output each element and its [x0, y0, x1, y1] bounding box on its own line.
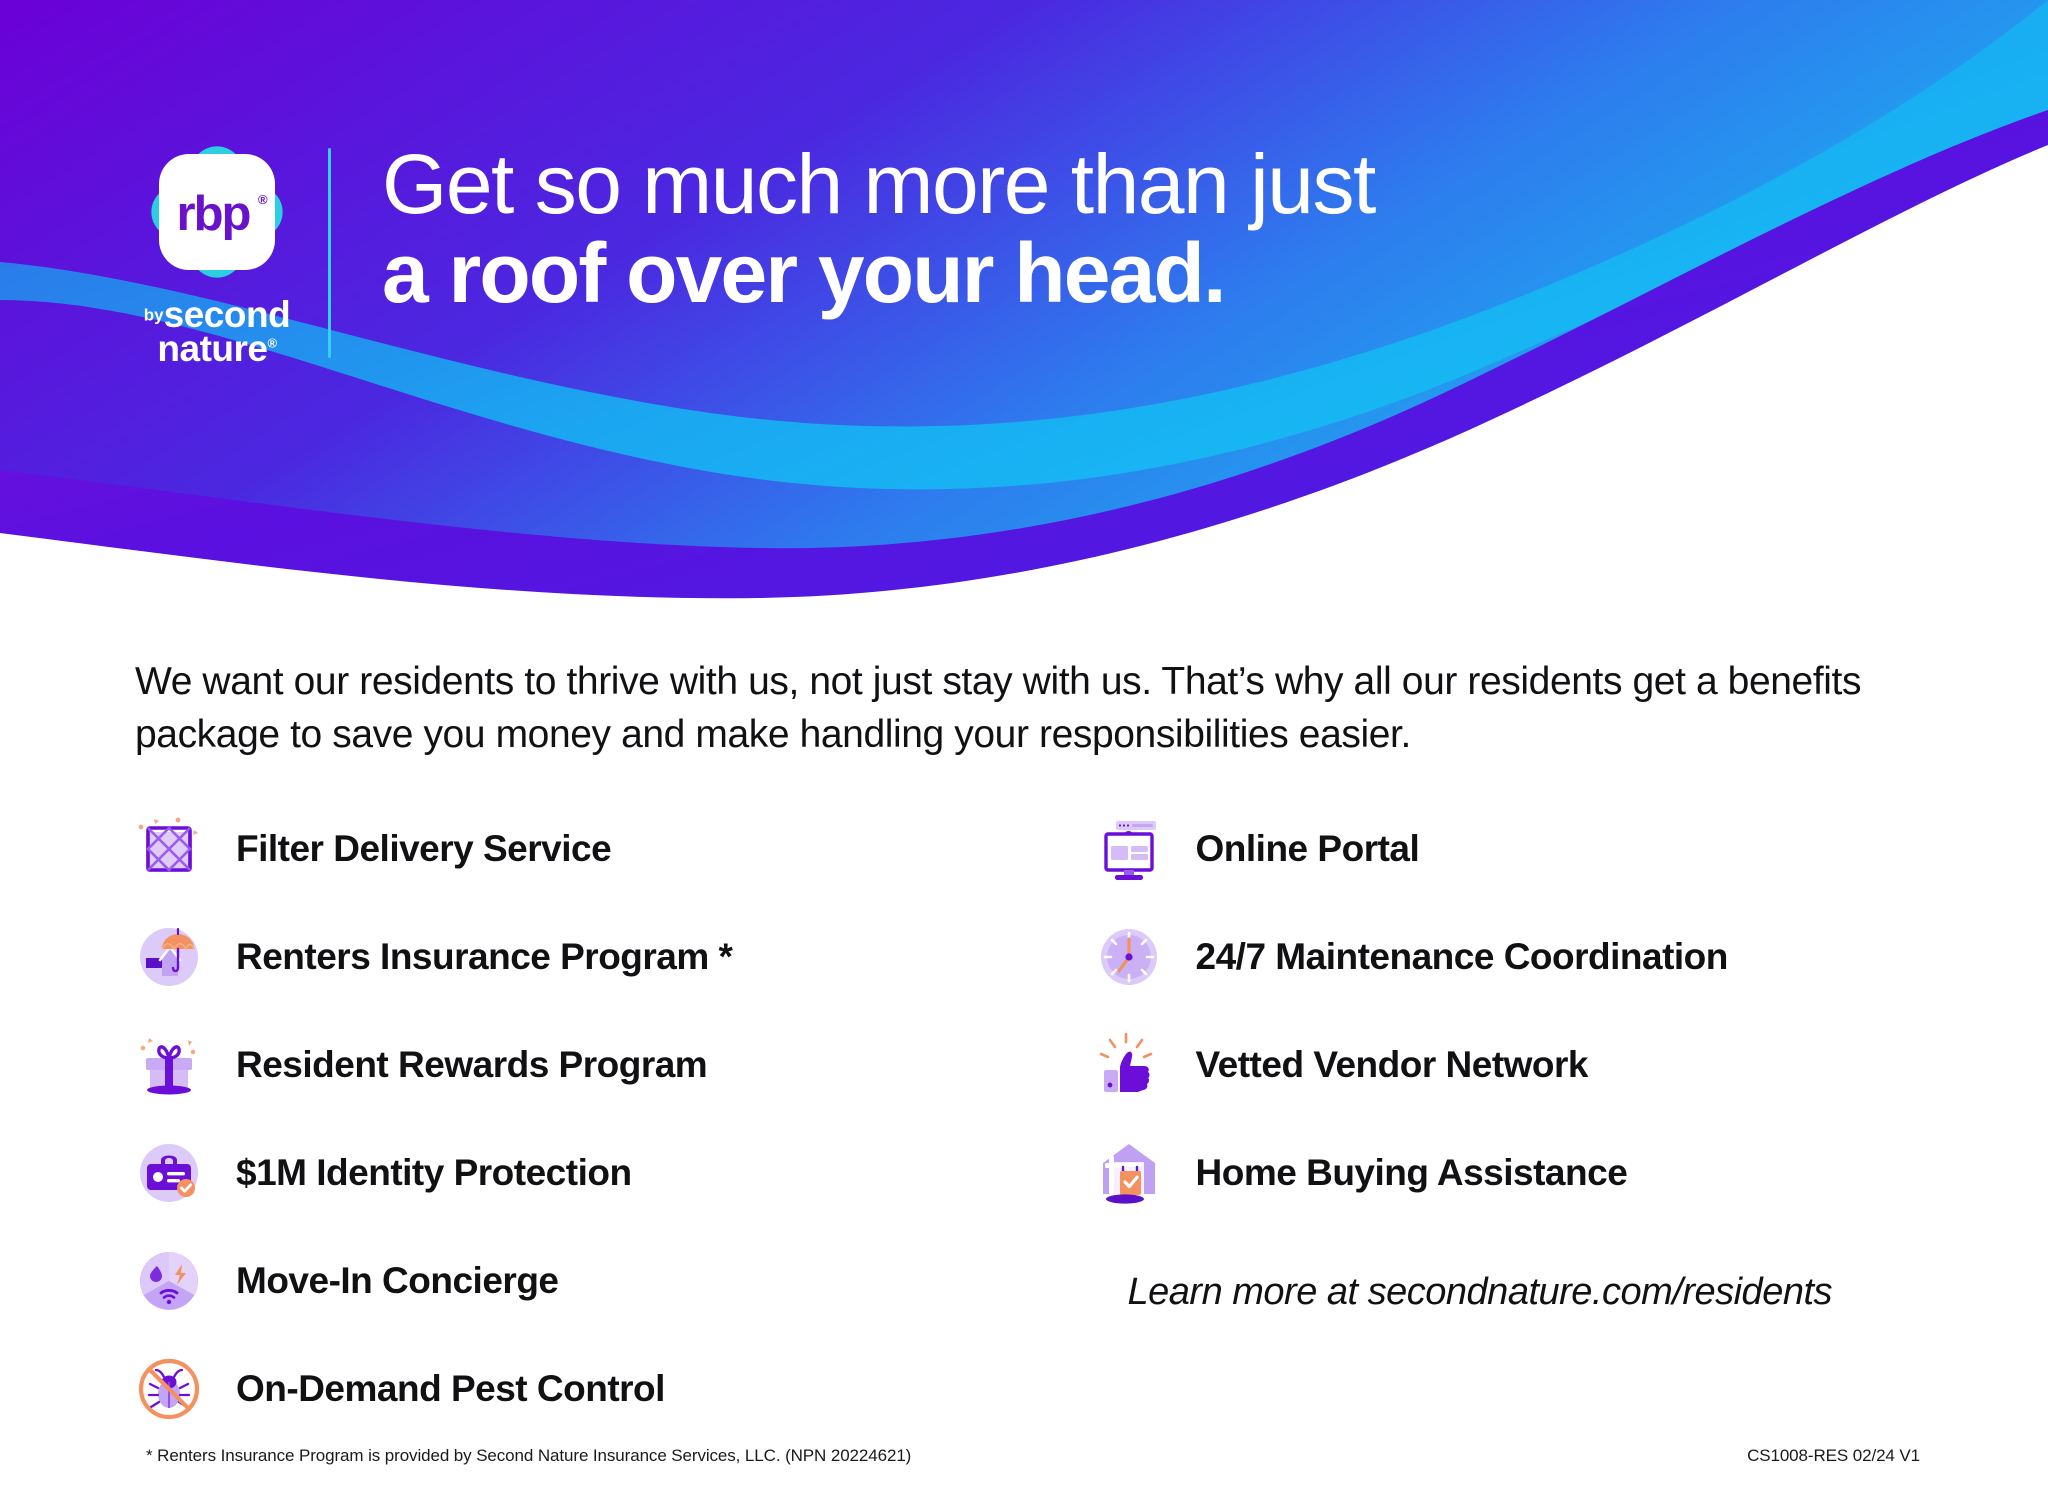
headline-line-2: a roof over your head. [382, 229, 1375, 318]
benefit-item: Online Portal [1090, 795, 1960, 903]
intro-paragraph: We want our residents to thrive with us,… [135, 655, 1935, 761]
benefit-item: $1M Identity Protection [130, 1119, 1030, 1227]
utilities-circle-icon [130, 1242, 208, 1320]
flyer-page: rbp ® bysecond nature® Get so much more … [0, 0, 2048, 1490]
benefit-label: Vetted Vendor Network [1196, 1044, 1589, 1086]
benefit-item: Resident Rewards Program [130, 1011, 1030, 1119]
benefit-label: Renters Insurance Program * [236, 936, 732, 978]
footer-document-code: CS1008-RES 02/24 V1 [1747, 1446, 1920, 1466]
benefit-item: 24/7 Maintenance Coordination [1090, 903, 1960, 1011]
benefit-item: Move-In Concierge [130, 1227, 1030, 1335]
learn-more-cta[interactable]: Learn more at secondnature.com/residents [1128, 1271, 1960, 1314]
umbrella-house-icon [130, 918, 208, 996]
benefit-label: Resident Rewards Program [236, 1044, 707, 1086]
benefit-label: Filter Delivery Service [236, 828, 611, 870]
benefit-item: Vetted Vendor Network [1090, 1011, 1960, 1119]
benefit-item: Filter Delivery Service [130, 795, 1030, 903]
svg-text:®: ® [258, 192, 268, 207]
benefits-column-left: Filter Delivery Service Re [130, 795, 1030, 1443]
benefit-label: Online Portal [1196, 828, 1420, 870]
gift-box-icon [130, 1026, 208, 1104]
rbp-badge-icon: rbp ® [137, 132, 297, 292]
air-filter-icon [130, 810, 208, 888]
thumbs-up-icon [1090, 1026, 1168, 1104]
benefit-label: Home Buying Assistance [1196, 1152, 1628, 1194]
benefit-label: On-Demand Pest Control [236, 1368, 665, 1410]
benefits-columns: Filter Delivery Service Re [130, 795, 1960, 1443]
hero-headline: Get so much more than just a roof over y… [382, 140, 1375, 318]
no-pest-icon [130, 1350, 208, 1428]
logo-registered-mark: ® [267, 336, 276, 351]
house-sign-check-icon [1090, 1134, 1168, 1212]
logo-by-text: by [144, 306, 164, 325]
clock-icon [1090, 918, 1168, 996]
benefit-label: Move-In Concierge [236, 1260, 559, 1302]
monitor-portal-icon [1090, 810, 1168, 888]
footer-disclaimer: * Renters Insurance Program is provided … [146, 1446, 911, 1466]
benefit-item: Renters Insurance Program * [130, 903, 1030, 1011]
benefit-label: 24/7 Maintenance Coordination [1196, 936, 1728, 978]
logo-nature-text: nature® [122, 332, 312, 366]
benefit-item: Home Buying Assistance [1090, 1119, 1960, 1227]
benefits-column-right: Online Portal [1090, 795, 1960, 1443]
hero-banner: rbp ® bysecond nature® Get so much more … [0, 0, 2048, 620]
hero-vertical-divider [328, 148, 331, 358]
headline-line-1: Get so much more than just [382, 140, 1375, 229]
svg-text:rbp: rbp [177, 187, 250, 241]
brand-logo-lockup: rbp ® bysecond nature® [122, 132, 312, 366]
benefit-label: $1M Identity Protection [236, 1152, 632, 1194]
rbp-logo-mark: rbp ® [137, 132, 297, 292]
logo-byline: bysecond nature® [122, 298, 312, 366]
id-badge-check-icon [130, 1134, 208, 1212]
benefit-item: On-Demand Pest Control [130, 1335, 1030, 1443]
